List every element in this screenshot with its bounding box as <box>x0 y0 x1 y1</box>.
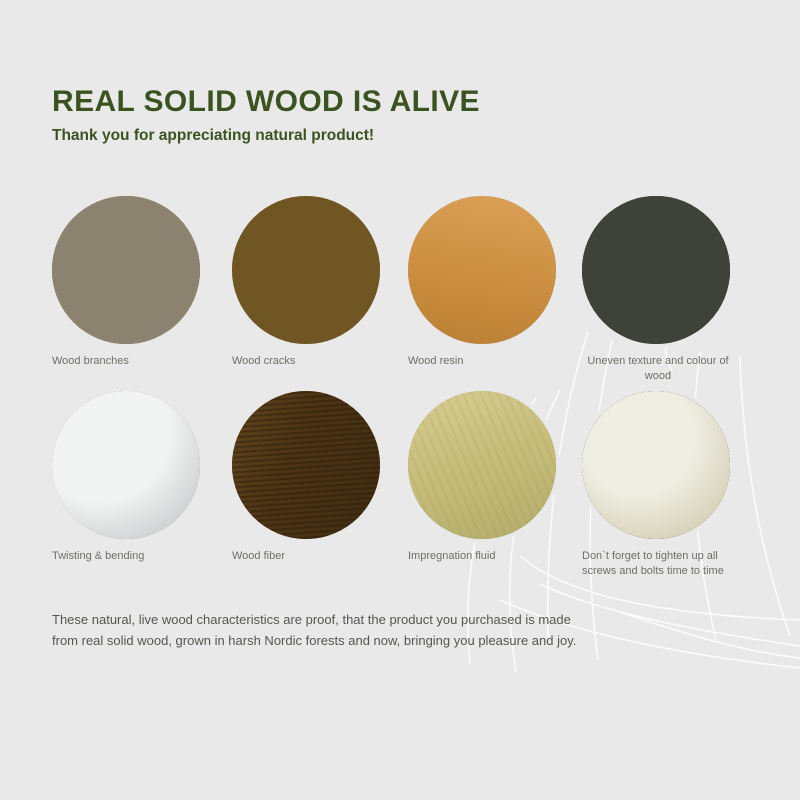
gallery-item-wood-branches: Wood branches <box>52 196 232 369</box>
caption-wood-branches: Wood branches <box>52 354 202 369</box>
wood-crack <box>232 196 380 344</box>
gallery-item-impregnation-fluid: Impregnation fluid <box>408 391 588 564</box>
caption-wood-fiber: Wood fiber <box>232 549 382 564</box>
gallery-item-wood-resin: Wood resin <box>408 196 588 369</box>
caption-impregnation-fluid: Impregnation fluid <box>408 549 558 564</box>
photo-wood-fiber <box>232 391 380 539</box>
photo-wood-cracks <box>232 196 380 344</box>
photo-twisting-bending <box>52 391 200 539</box>
caption-twisting-bending: Twisting & bending <box>52 549 202 564</box>
screw-head-icon <box>52 196 200 344</box>
gallery-item-uneven-texture: Uneven texture and colour of wood <box>582 196 762 384</box>
photo-tighten-screws <box>582 391 730 539</box>
photo-wood-branches <box>52 196 200 344</box>
header: REAL SOLID WOOD IS ALIVE Thank you for a… <box>52 86 480 144</box>
bolt-head-icon <box>52 391 200 539</box>
gallery-item-twisting-bending: Twisting & bending <box>52 391 232 564</box>
gallery-item-wood-fiber: Wood fiber <box>232 391 412 564</box>
photo-wood-resin <box>408 196 556 344</box>
caption-tighten-screws: Don`t forget to tighten up all screws an… <box>582 549 744 579</box>
board-face <box>408 391 556 539</box>
photo-uneven-texture <box>582 196 730 344</box>
footer-paragraph: These natural, live wood characteristics… <box>52 609 582 651</box>
plank-gap <box>582 196 730 344</box>
photo-impregnation-fluid <box>408 391 556 539</box>
gallery-item-tighten-screws: Don`t forget to tighten up all screws an… <box>582 391 762 579</box>
fibrous-knot <box>232 391 380 539</box>
screw-head-icon <box>582 391 730 539</box>
caption-wood-cracks: Wood cracks <box>232 354 382 369</box>
gallery-item-wood-cracks: Wood cracks <box>232 196 412 369</box>
caption-wood-resin: Wood resin <box>408 354 558 369</box>
caption-uneven-texture: Uneven texture and colour of wood <box>582 354 734 384</box>
wood-care-infographic: REAL SOLID WOOD IS ALIVE Thank you for a… <box>0 0 800 800</box>
page-subtitle: Thank you for appreciating natural produ… <box>52 127 480 144</box>
resin-streak <box>408 196 556 344</box>
page-title: REAL SOLID WOOD IS ALIVE <box>52 86 480 118</box>
